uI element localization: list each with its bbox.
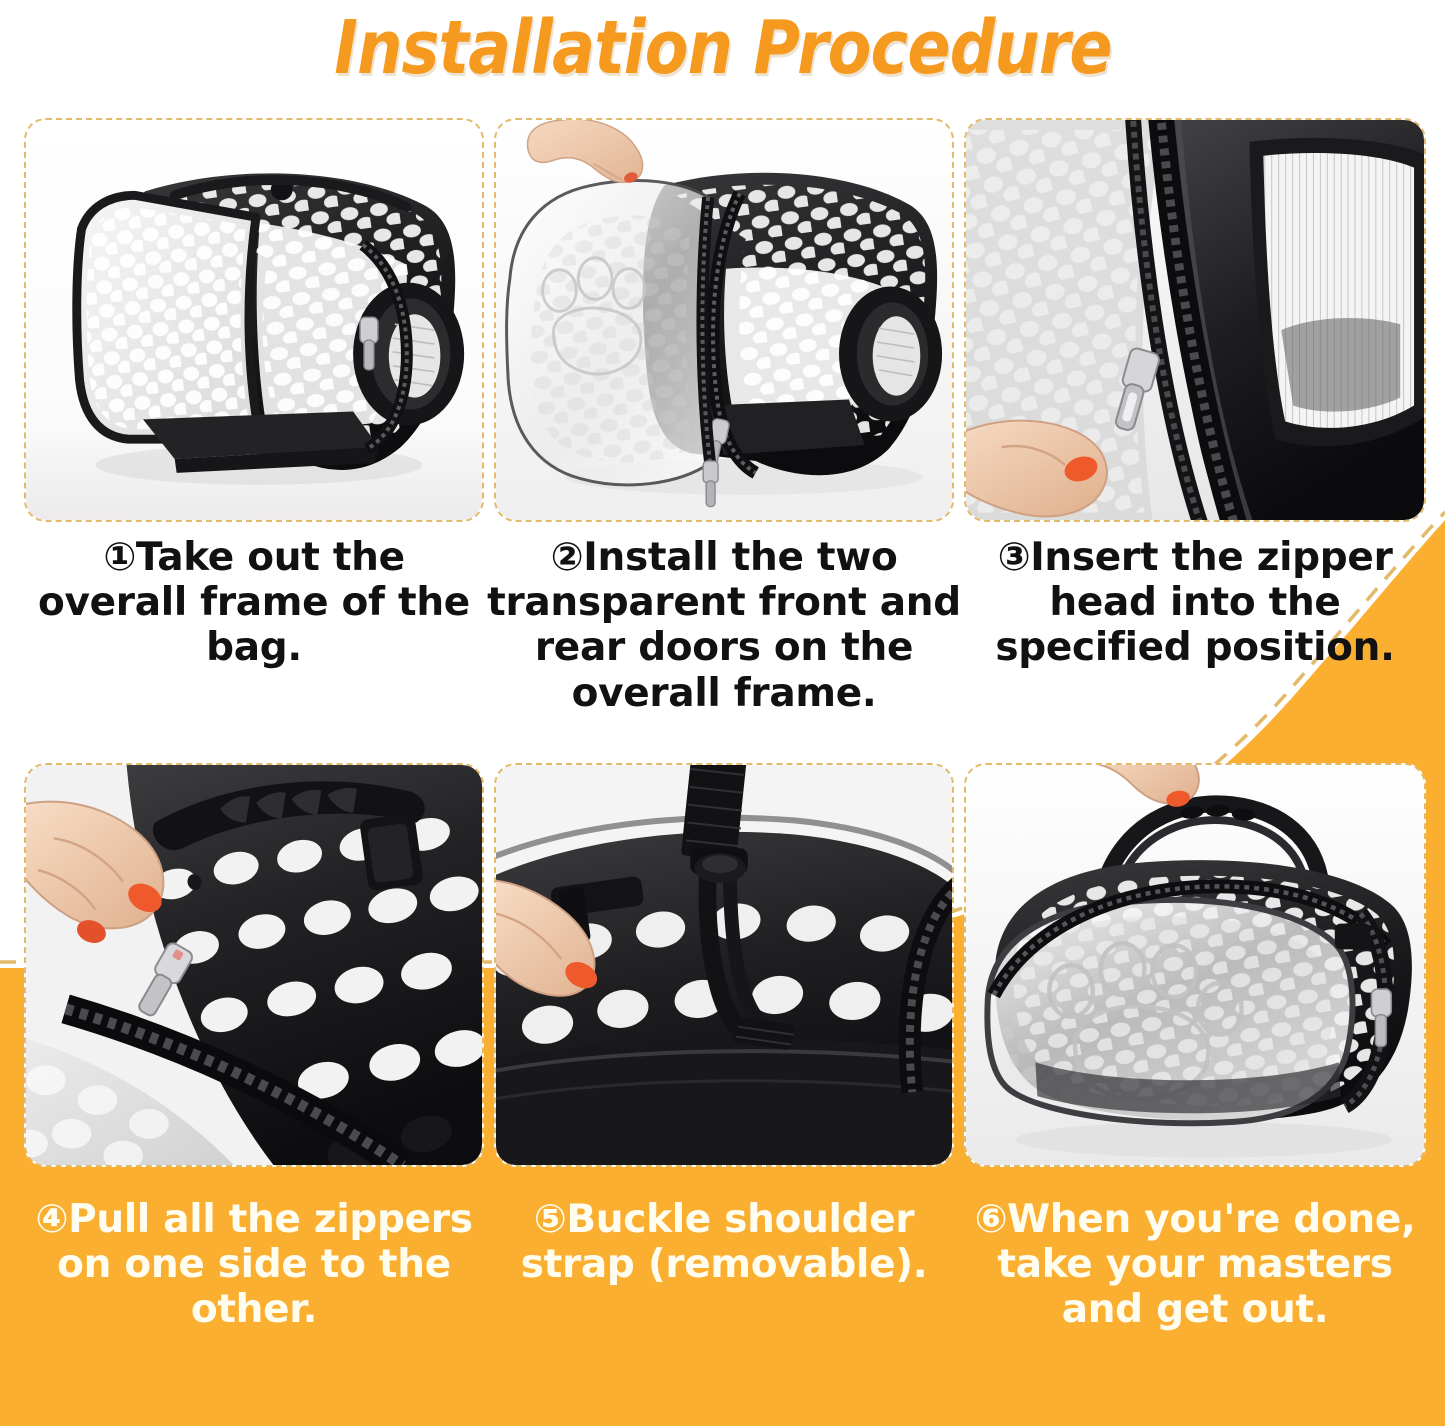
step-2-caption: ②Install the two transparent front and r… — [486, 535, 962, 716]
step-5-photo — [494, 763, 954, 1167]
finished-carrier-illustration — [966, 765, 1424, 1165]
step-3-photo — [964, 118, 1426, 522]
step-6-caption: ⑥When you're done, take your masters and… — [956, 1197, 1434, 1333]
steps-grid: ①Take out the overall frame of the bag. — [0, 0, 1445, 1426]
step-1-caption: ①Take out the overall frame of the bag. — [24, 535, 484, 671]
buckle-strap-illustration — [496, 765, 952, 1165]
page-title: Installation Procedure — [334, 5, 1111, 91]
step-1-photo — [24, 118, 484, 522]
step-4-photo — [24, 763, 484, 1167]
carrier-frame-illustration — [26, 120, 482, 520]
zipper-insert-illustration — [966, 120, 1424, 520]
infographic-page: Installation Procedure — [0, 0, 1445, 1426]
install-door-illustration — [496, 120, 952, 520]
page-title-container: Installation Procedure — [0, 2, 1445, 94]
step-4-caption: ④Pull all the zippers on one side to the… — [24, 1197, 484, 1333]
step-6-photo — [964, 763, 1426, 1167]
step-5-caption: ⑤Buckle shoulder strap (removable). — [494, 1197, 954, 1287]
step-3-caption: ③Insert the zipper head into the specifi… — [958, 535, 1432, 671]
pull-zipper-illustration — [26, 765, 482, 1165]
step-2-photo — [494, 118, 954, 522]
